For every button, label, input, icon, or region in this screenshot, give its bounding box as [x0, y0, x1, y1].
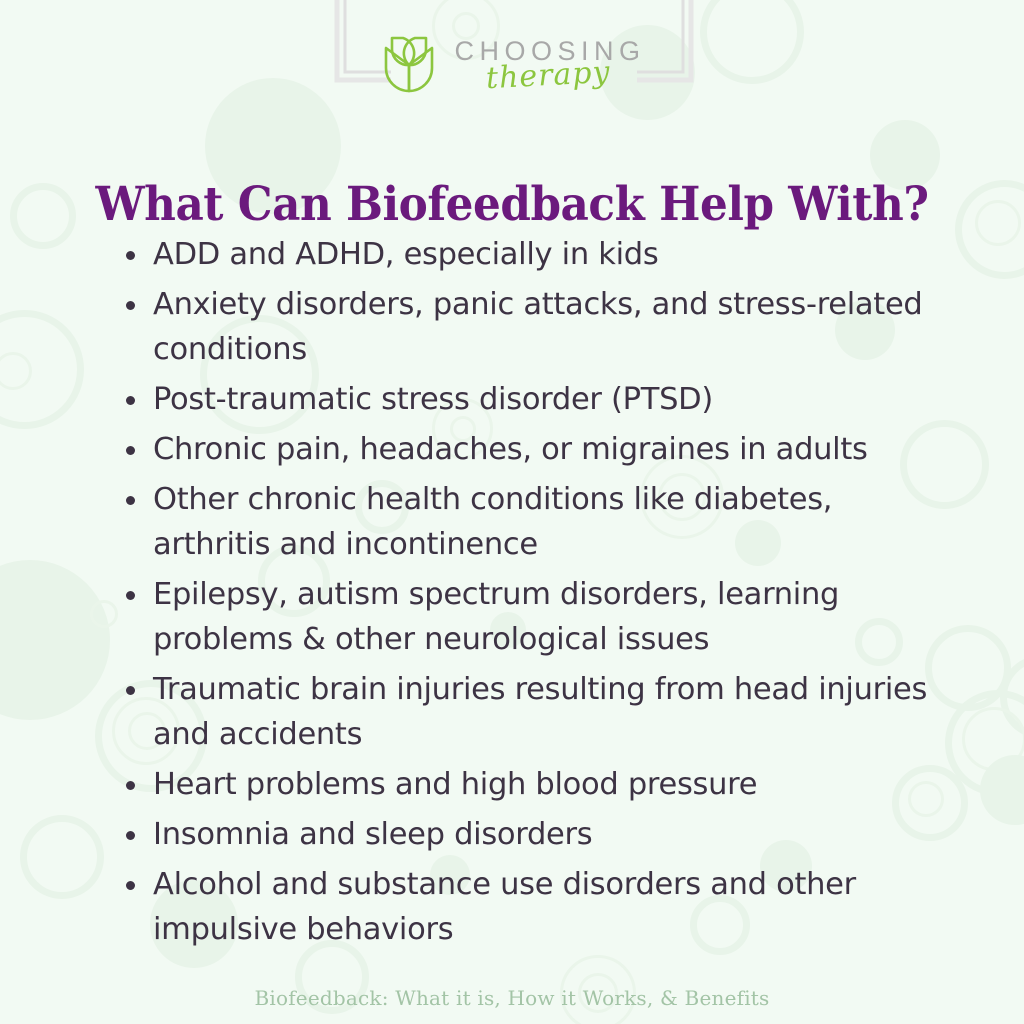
- list-item: Other chronic health conditions like dia…: [122, 477, 952, 567]
- list-item: Anxiety disorders, panic attacks, and st…: [122, 282, 952, 372]
- list-item: Epilepsy, autism spectrum disorders, lea…: [122, 572, 952, 662]
- list-item: Traumatic brain injuries resulting from …: [122, 667, 952, 757]
- list-item-label: Post-traumatic stress disorder (PTSD): [153, 382, 713, 417]
- list-item-label: Epilepsy, autism spectrum disorders, lea…: [153, 577, 839, 657]
- bullet-dot-icon: [126, 781, 135, 790]
- list-item-label: Insomnia and sleep disorders: [153, 817, 592, 852]
- list-item: Post-traumatic stress disorder (PTSD): [122, 377, 952, 422]
- list-item-label: ADD and ADHD, especially in kids: [153, 237, 658, 272]
- logo-wordmark: CHOOSING therapy: [450, 38, 645, 91]
- list-item: Alcohol and substance use disorders and …: [122, 862, 952, 952]
- bullet-dot-icon: [126, 831, 135, 840]
- footer-caption: Biofeedback: What it is, How it Works, &…: [0, 986, 1024, 1010]
- bullet-dot-icon: [126, 446, 135, 455]
- list-item-label: Heart problems and high blood pressure: [153, 767, 757, 802]
- lotus-leaf-logo-icon: [378, 34, 440, 94]
- list-item: Insomnia and sleep disorders: [122, 812, 952, 857]
- bullet-dot-icon: [126, 686, 135, 695]
- bullet-dot-icon: [126, 881, 135, 890]
- list-item-label: Anxiety disorders, panic attacks, and st…: [153, 287, 922, 367]
- logo-word-therapy: therapy: [485, 57, 611, 93]
- benefits-list: ADD and ADHD, especially in kidsAnxiety …: [122, 232, 952, 957]
- page-title: What Can Biofeedback Help With?: [36, 177, 988, 232]
- list-item-label: Alcohol and substance use disorders and …: [153, 867, 856, 947]
- list-item-label: Traumatic brain injuries resulting from …: [153, 672, 927, 752]
- list-item: ADD and ADHD, especially in kids: [122, 232, 952, 277]
- brand-logo: CHOOSING therapy: [0, 24, 1024, 104]
- list-item: Heart problems and high blood pressure: [122, 762, 952, 807]
- infographic-card: CHOOSING therapy What Can Biofeedback He…: [0, 0, 1024, 1024]
- list-item-label: Other chronic health conditions like dia…: [153, 482, 832, 562]
- bullet-dot-icon: [126, 251, 135, 260]
- bullet-dot-icon: [126, 396, 135, 405]
- bullet-dot-icon: [126, 591, 135, 600]
- bullet-dot-icon: [126, 301, 135, 310]
- list-item-label: Chronic pain, headaches, or migraines in…: [153, 432, 868, 467]
- bullet-dot-icon: [126, 496, 135, 505]
- list-item: Chronic pain, headaches, or migraines in…: [122, 427, 952, 472]
